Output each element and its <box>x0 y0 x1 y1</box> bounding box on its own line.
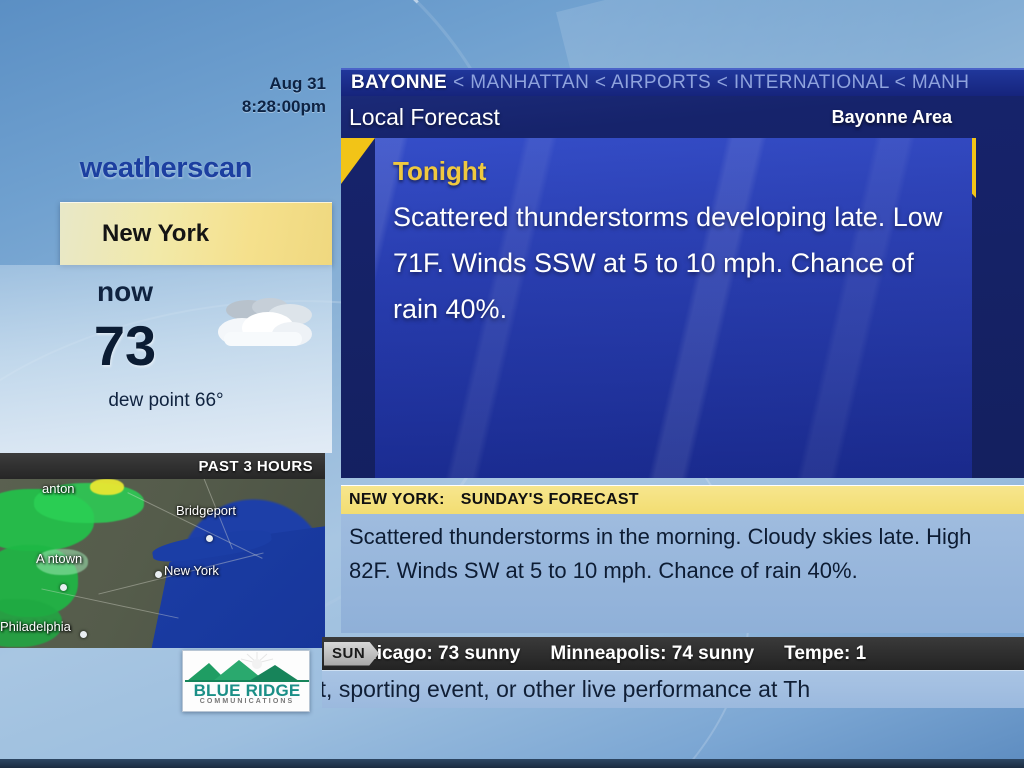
extended-forecast-text: Scattered thunderstorms in the morning. … <box>349 520 1014 588</box>
local-forecast-header: Local Forecast Bayonne Area <box>341 96 1024 138</box>
city-name-label: New York <box>102 220 209 248</box>
local-forecast-title: Local Forecast <box>349 104 500 131</box>
radar-label-scranton: anton <box>42 481 75 496</box>
radar-label-bridgeport: Bridgeport <box>176 503 236 518</box>
extended-forecast-day: SUNDAY'S FORECAST <box>461 491 639 509</box>
radar-label-new-york: New York <box>164 563 219 578</box>
ticker-day-label: SUN <box>332 645 365 662</box>
forecast-period-label: Tonight <box>393 156 486 187</box>
bottom-edge-strip <box>0 759 1024 768</box>
ticker-day-badge: SUN <box>324 642 379 666</box>
time-label: 8:28:00pm <box>6 95 326 118</box>
radar-label-philadelphia: Philadelphia <box>0 619 71 634</box>
ticker-item: hicago: 73 sunny <box>365 643 520 665</box>
conditions-ticker: SUN hicago: 73 sunny Minneapolis: 74 sun… <box>322 637 1024 670</box>
ticker-item: Tempe: 1 <box>784 643 866 665</box>
breadcrumb-current-location: BAYONNE <box>351 72 447 94</box>
ticker-item-list: hicago: 73 sunny Minneapolis: 74 sunny T… <box>365 643 896 665</box>
weatherscan-logo: weatherscan <box>0 152 332 185</box>
ticker-item: Minneapolis: 74 sunny <box>550 643 754 665</box>
local-forecast-body: Tonight Scattered thunderstorms developi… <box>375 138 972 478</box>
forecast-area-label: Bayonne Area <box>832 107 952 128</box>
forecast-description: Scattered thunderstorms developing late.… <box>393 194 953 332</box>
dew-point-label: dew point 66° <box>0 390 332 412</box>
cloudy-icon <box>212 288 320 354</box>
breadcrumb-trail: < MANHATTAN < AIRPORTS < INTERNATIONAL <… <box>453 72 969 94</box>
radar-city-dot <box>206 535 213 542</box>
radar-city-dot <box>155 571 162 578</box>
advertisement-crawl: rt, sporting event, or other live perfor… <box>322 670 1024 708</box>
radar-city-dot <box>60 584 67 591</box>
city-name-banner: New York <box>60 202 332 265</box>
local-forecast-panel: Local Forecast Bayonne Area Tonight Scat… <box>341 96 1024 478</box>
radar-title-label: PAST 3 HOURS <box>198 458 313 475</box>
radar-echo-yellow <box>90 479 124 495</box>
extended-forecast-header: NEW YORK: SUNDAY'S FORECAST <box>341 485 1024 514</box>
logo-secondary-text: COMMUNICATIONS <box>183 698 310 705</box>
extended-forecast-city: NEW YORK: <box>349 491 445 509</box>
breadcrumb[interactable]: BAYONNE < MANHATTAN < AIRPORTS < INTERNA… <box>341 68 1024 96</box>
blue-ridge-communications-logo: BLUE RIDGE COMMUNICATIONS <box>182 650 310 712</box>
radar-city-dot <box>80 631 87 638</box>
crawl-text: rt, sporting event, or other live perfor… <box>322 676 810 703</box>
radar-title-bar: PAST 3 HOURS <box>0 453 325 479</box>
date-time-display: Aug 31 8:28:00pm <box>6 72 326 118</box>
corner-triangle-left-icon <box>341 138 375 184</box>
radar-label-allentown: A ntown <box>36 551 82 566</box>
left-sidebar: Aug 31 8:28:00pm weatherscan New York no… <box>0 0 332 768</box>
date-label: Aug 31 <box>6 72 326 95</box>
radar-map[interactable]: anton Bridgeport A ntown New York Philad… <box>0 453 325 648</box>
mountain-sunburst-icon <box>183 651 310 683</box>
extended-forecast-body: Scattered thunderstorms in the morning. … <box>341 514 1024 633</box>
